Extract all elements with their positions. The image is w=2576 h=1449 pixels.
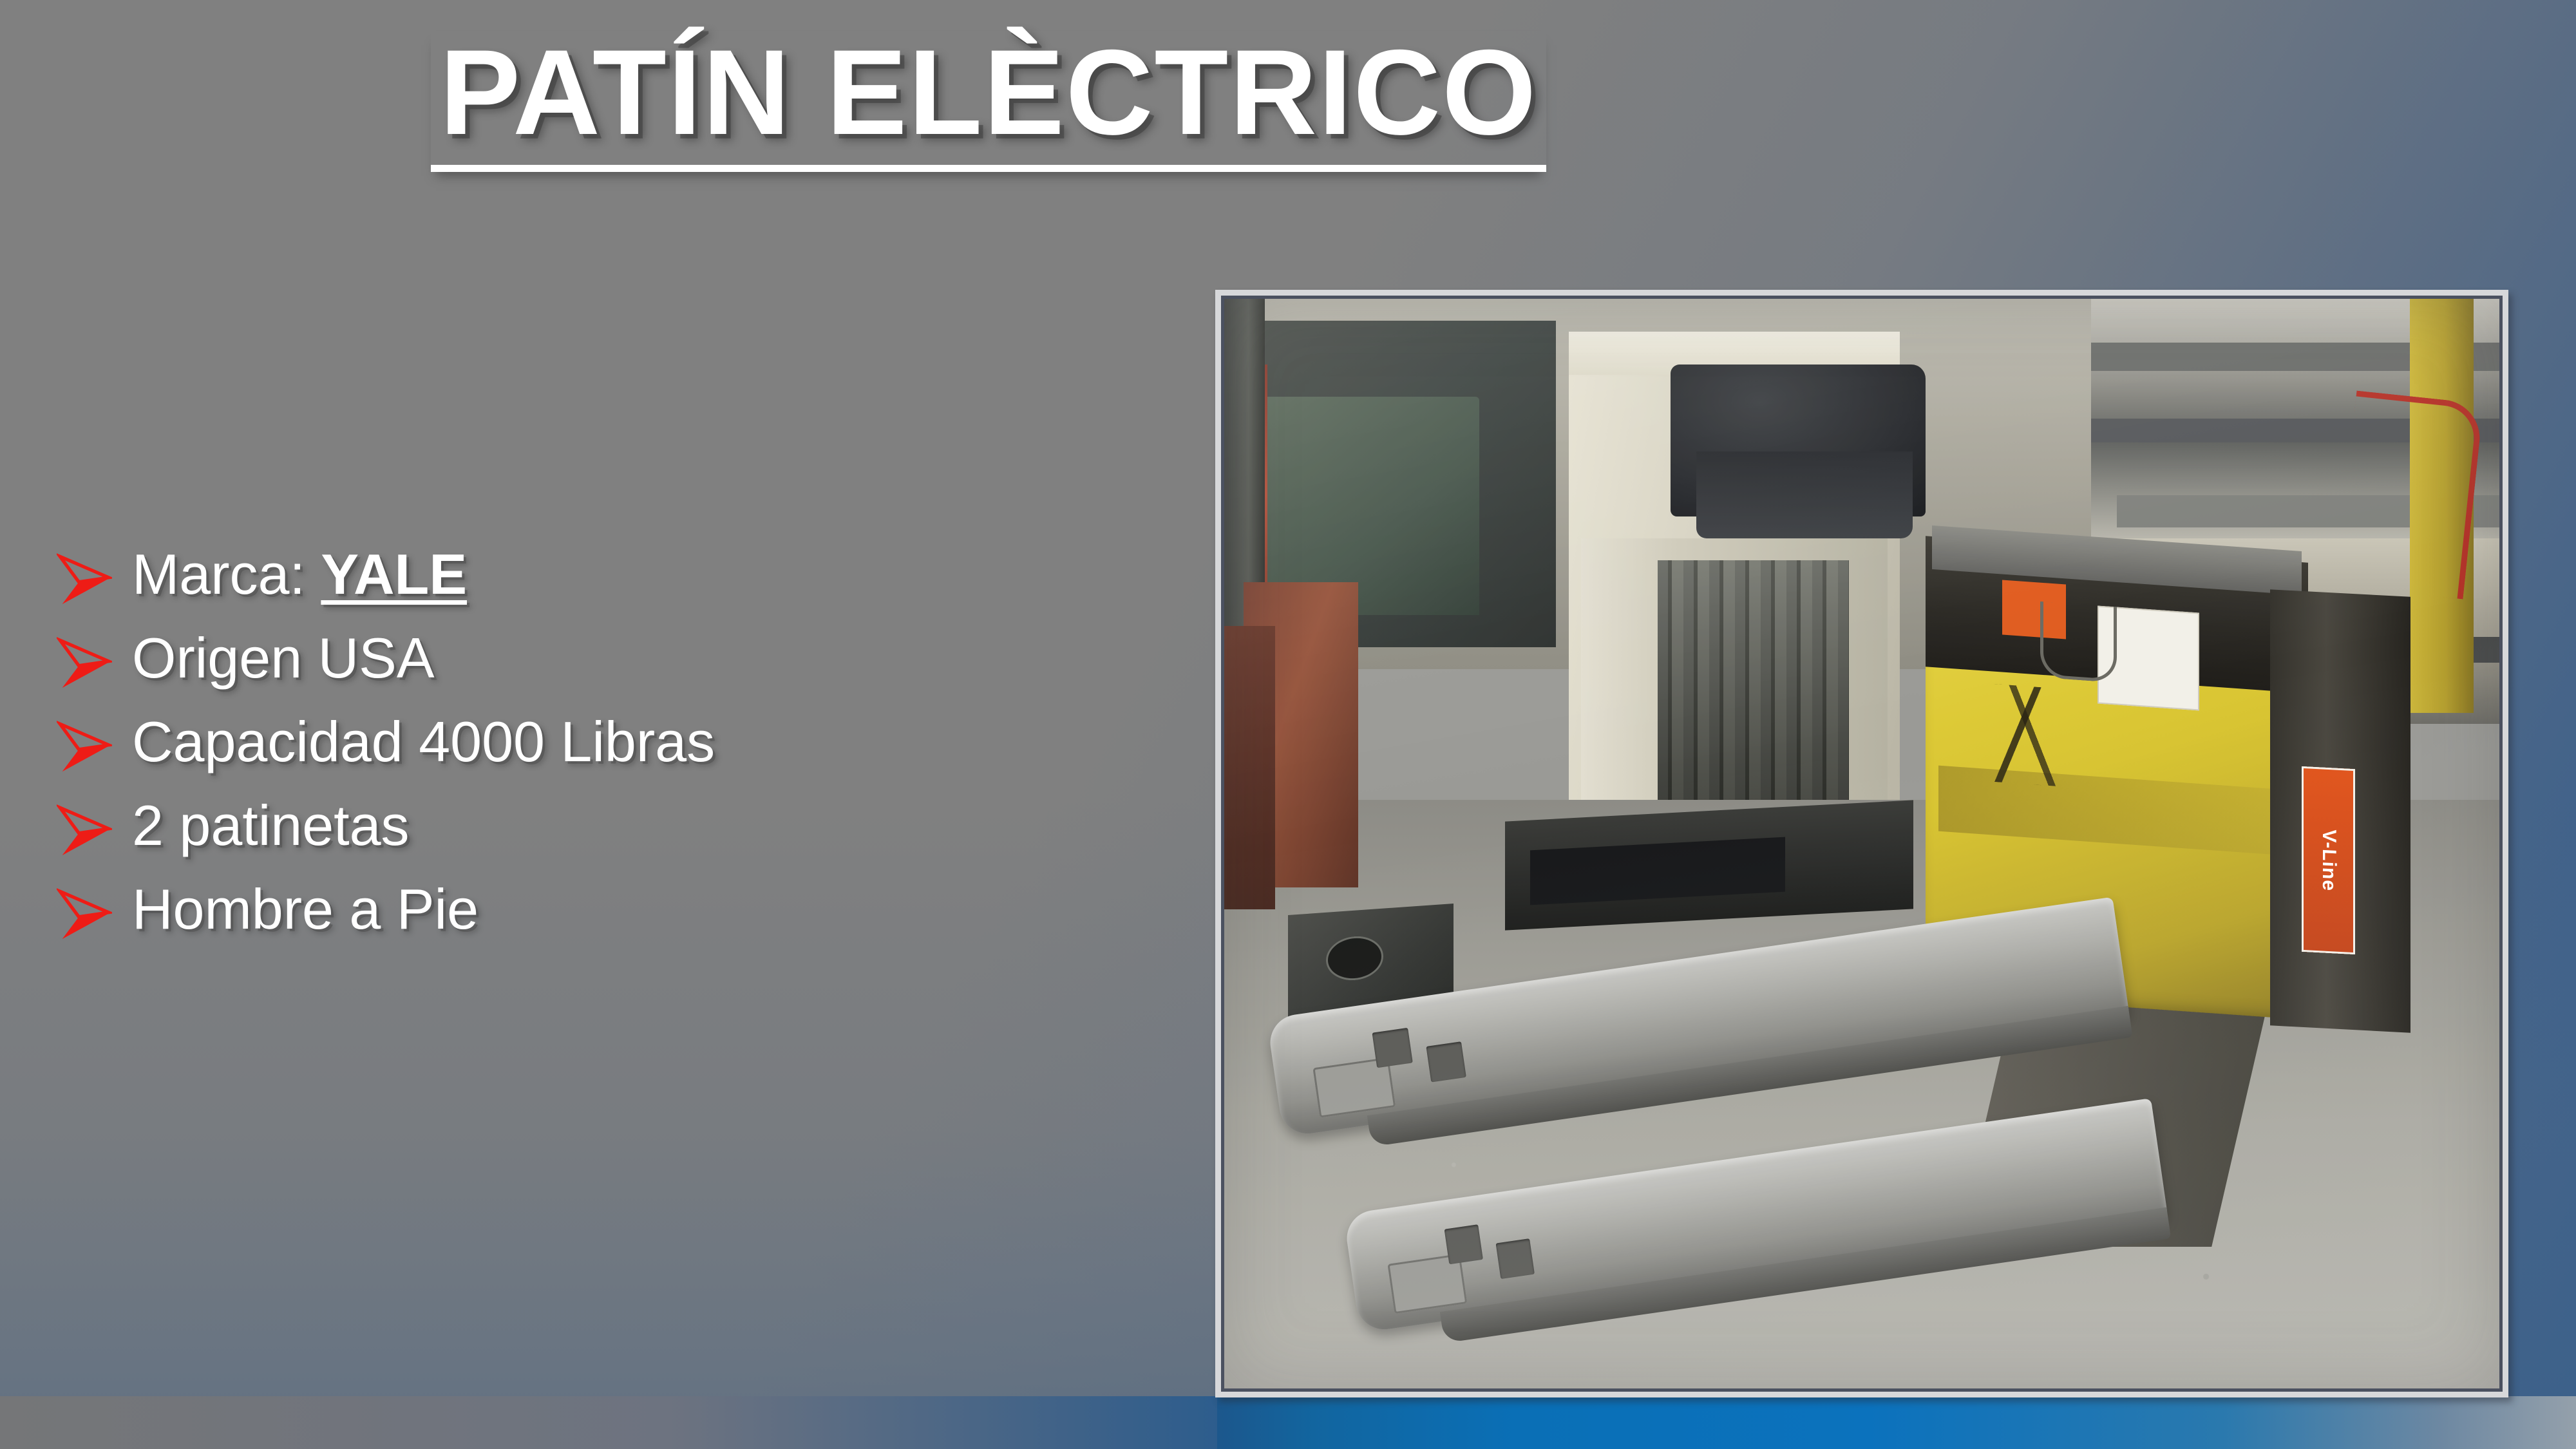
list-item: Origen USA	[39, 628, 1146, 704]
list-item-emphasis: YALE	[321, 542, 467, 606]
list-item: 2 patinetas	[39, 795, 1146, 871]
list-item: Hombre a Pie	[39, 879, 1146, 955]
list-item-text: Marca: YALE	[132, 544, 467, 604]
list-item: Capacidad 4000 Libras	[39, 712, 1146, 788]
slide-background-bottom-band-left	[0, 1396, 1217, 1449]
equipment-photo: V-Line	[1221, 296, 2503, 1392]
slide-background-bottom-band-blue	[1217, 1396, 2576, 1449]
bullet-list: Marca: YALE Origen USA Capacidad 4000 Li…	[39, 544, 1146, 963]
red-arrowhead-bullet-icon	[39, 795, 132, 860]
presentation-slide: PATÍN ELÈCTRICO Marca: YALE Origen USA	[0, 0, 2576, 1449]
photo-frame: V-Line	[1215, 290, 2508, 1397]
red-arrowhead-bullet-icon	[39, 712, 132, 776]
list-item-text: Hombre a Pie	[132, 879, 478, 939]
list-item-text: Capacidad 4000 Libras	[132, 712, 715, 772]
list-item: Marca: YALE	[39, 544, 1146, 620]
list-item-text: 2 patinetas	[132, 795, 410, 855]
title-block: PATÍN ELÈCTRICO	[0, 31, 1977, 172]
red-arrowhead-bullet-icon	[39, 879, 132, 943]
red-arrowhead-bullet-icon	[39, 544, 132, 609]
page-title: PATÍN ELÈCTRICO	[431, 31, 1547, 172]
list-item-text: Origen USA	[132, 628, 435, 688]
red-arrowhead-bullet-icon	[39, 628, 132, 692]
